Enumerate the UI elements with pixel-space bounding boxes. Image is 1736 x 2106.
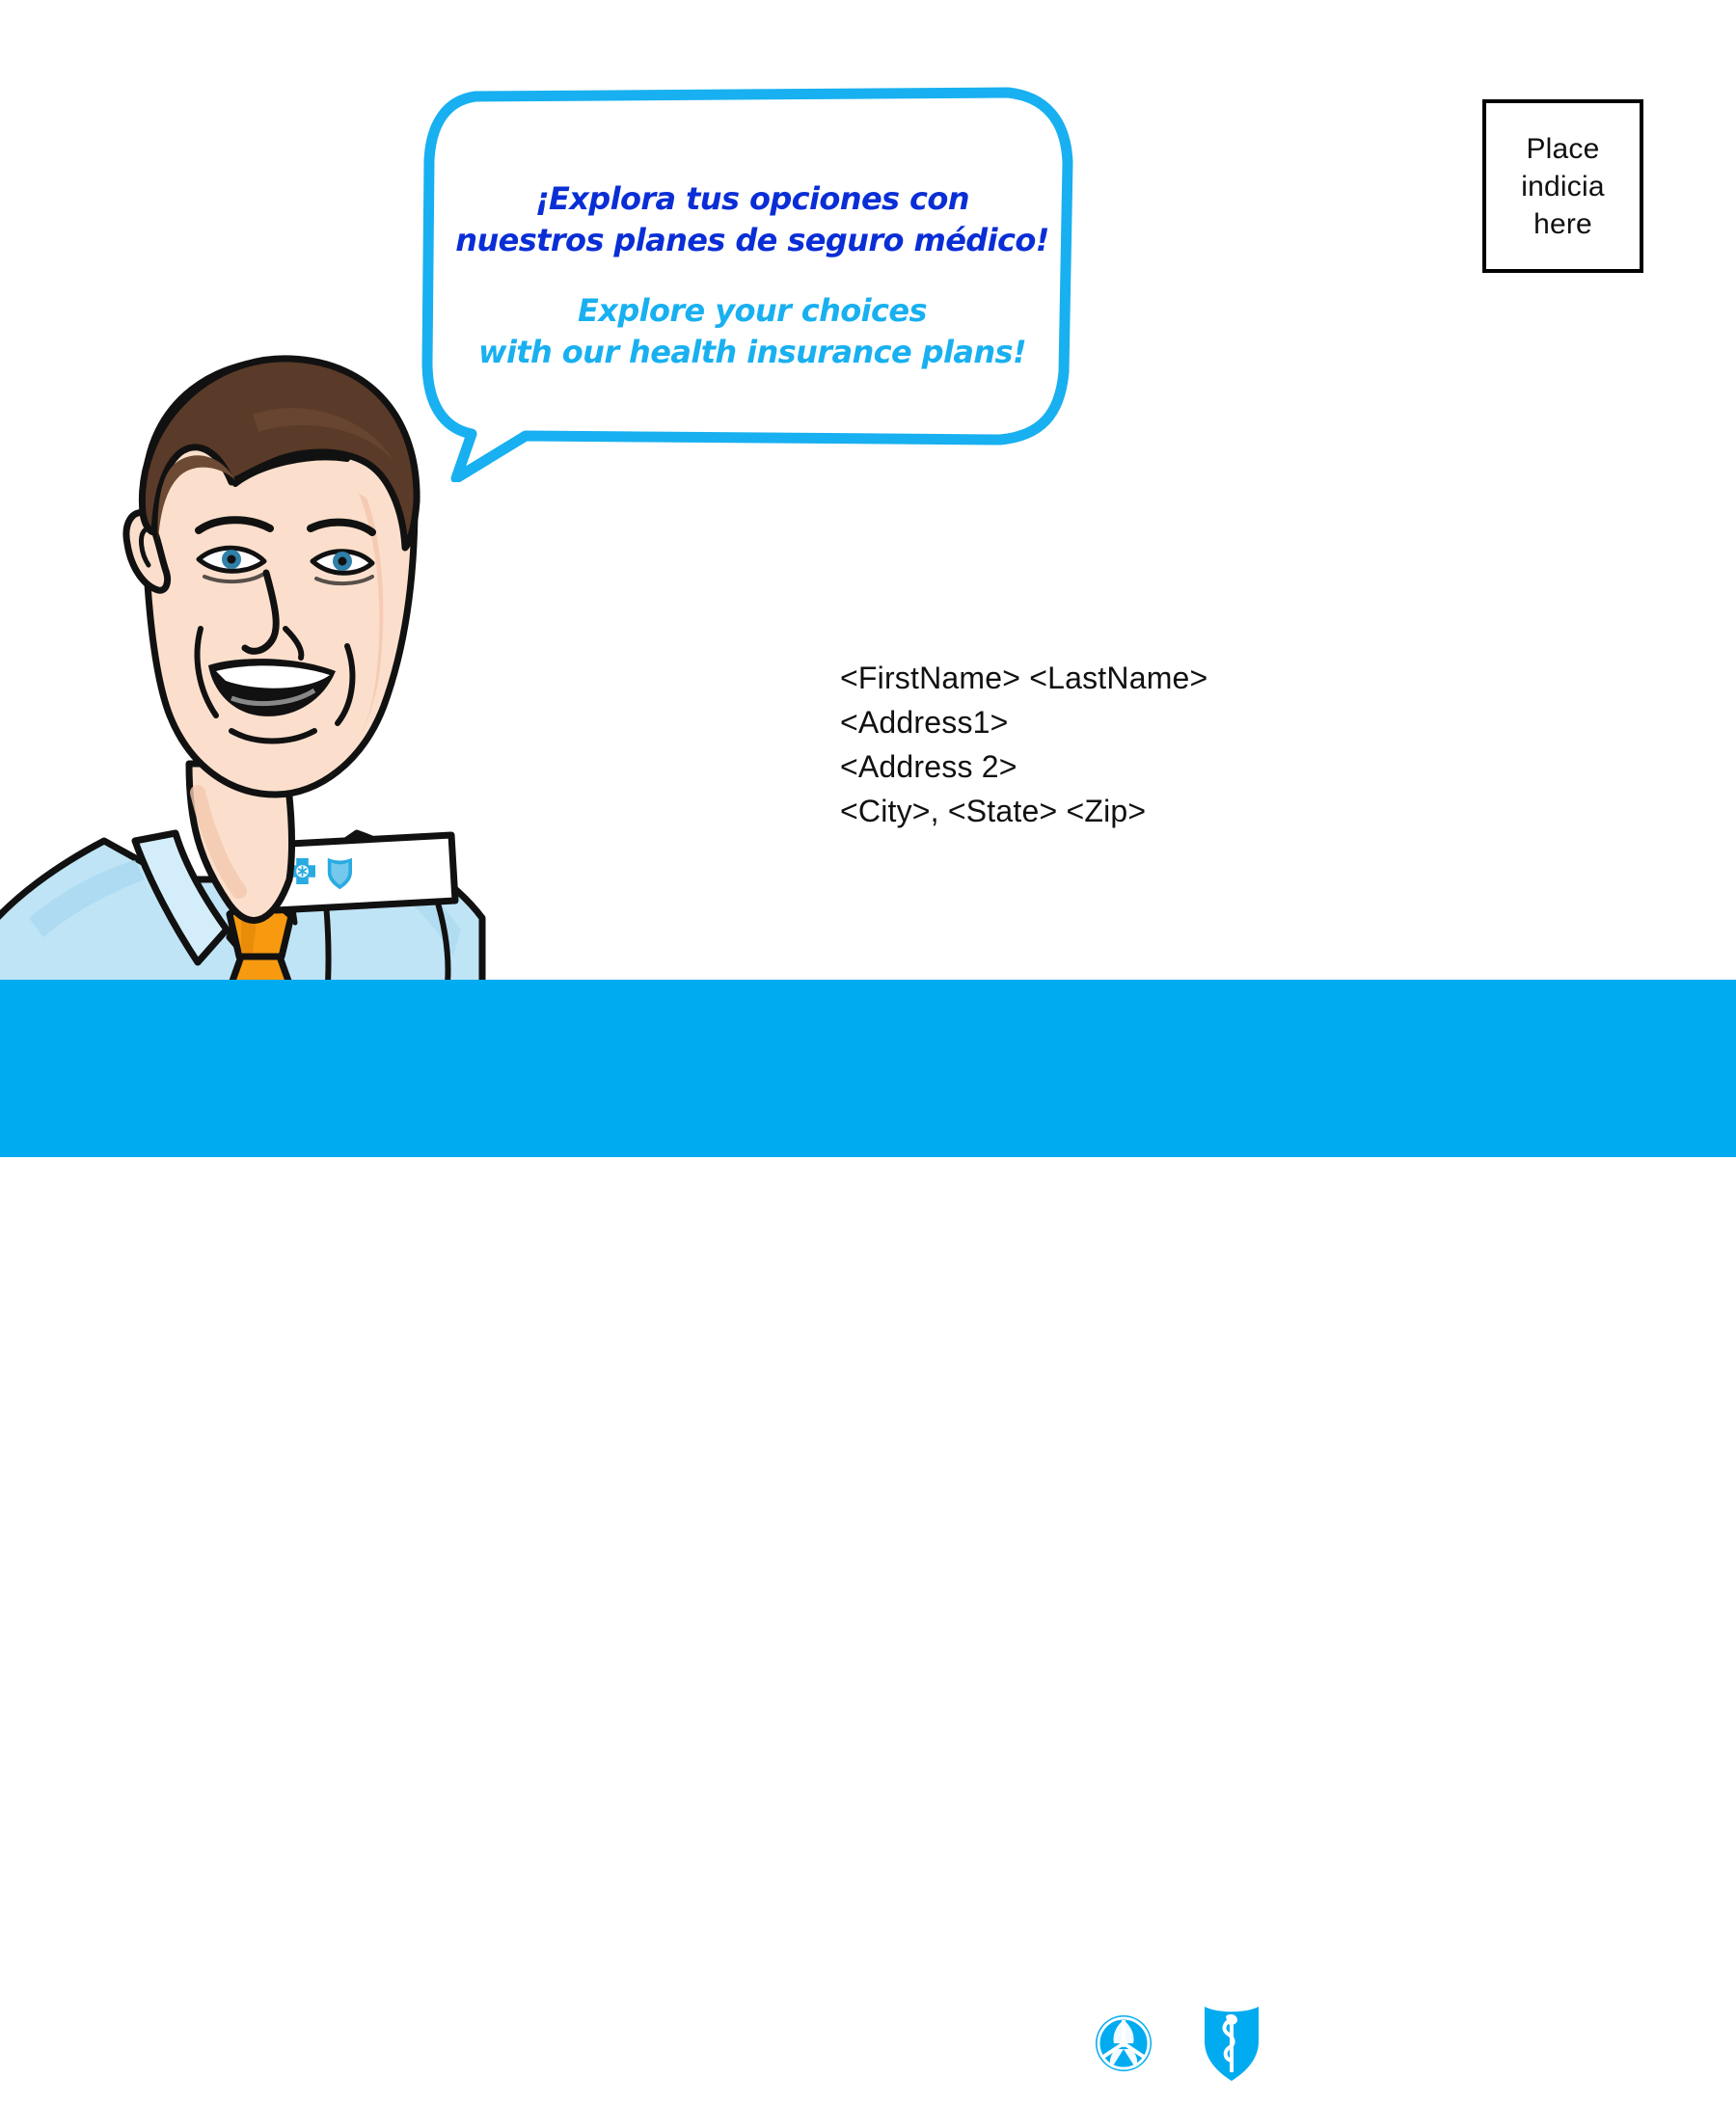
footer-brand-bar: ® ® BlueCross BlueShield of Texas: [0, 980, 1736, 1157]
bcbs-wordmark: BlueCross BlueShield of Texas: [1316, 2000, 1690, 2096]
bcbs-logo-marks: ® ®: [1070, 1991, 1291, 2105]
postcard-canvas: ¡Explora tus opciones con nuestros plane…: [0, 0, 1736, 1157]
indicia-placeholder-box: Place indicia here: [1482, 99, 1643, 273]
address-line-name: <FirstName> <LastName>: [840, 656, 1207, 700]
bubble-english-line-1: Explore your choices: [439, 290, 1066, 332]
brand-name-line-2: of Texas: [1316, 2048, 1690, 2096]
indicia-line-3: here: [1533, 205, 1592, 243]
registered-mark-shield: ®: [1268, 2084, 1278, 2098]
indicia-line-2: indicia: [1521, 168, 1604, 205]
mailing-address-block: <FirstName> <LastName> <Address1> <Addre…: [840, 656, 1207, 833]
bcbs-logo-lockup: ® ® BlueCross BlueShield of Texas: [1070, 1990, 1690, 2106]
address-line-city-state-zip: <City>, <State> <Zip>: [840, 789, 1207, 833]
address-line-2: <Address 2>: [840, 744, 1207, 789]
speech-bubble-text: ¡Explora tus opciones con nuestros plane…: [439, 178, 1066, 373]
indicia-line-1: Place: [1526, 130, 1599, 168]
bubble-spanish-line-1: ¡Explora tus opciones con: [439, 178, 1066, 220]
bubble-text-spacer: [439, 261, 1066, 290]
bcbs-cross-icon: ®: [1070, 1991, 1178, 2105]
registered-mark-cross: ®: [1151, 2084, 1160, 2098]
brand-name-line-1: BlueCross BlueShield: [1316, 2000, 1690, 2048]
bcbs-shield-icon: ®: [1191, 1991, 1291, 2105]
address-line-1: <Address1>: [840, 700, 1207, 744]
employee-name-badge: [272, 835, 455, 910]
bubble-english-line-2: with our health insurance plans!: [439, 332, 1066, 373]
bubble-spanish-line-2: nuestros planes de seguro médico!: [439, 220, 1066, 261]
